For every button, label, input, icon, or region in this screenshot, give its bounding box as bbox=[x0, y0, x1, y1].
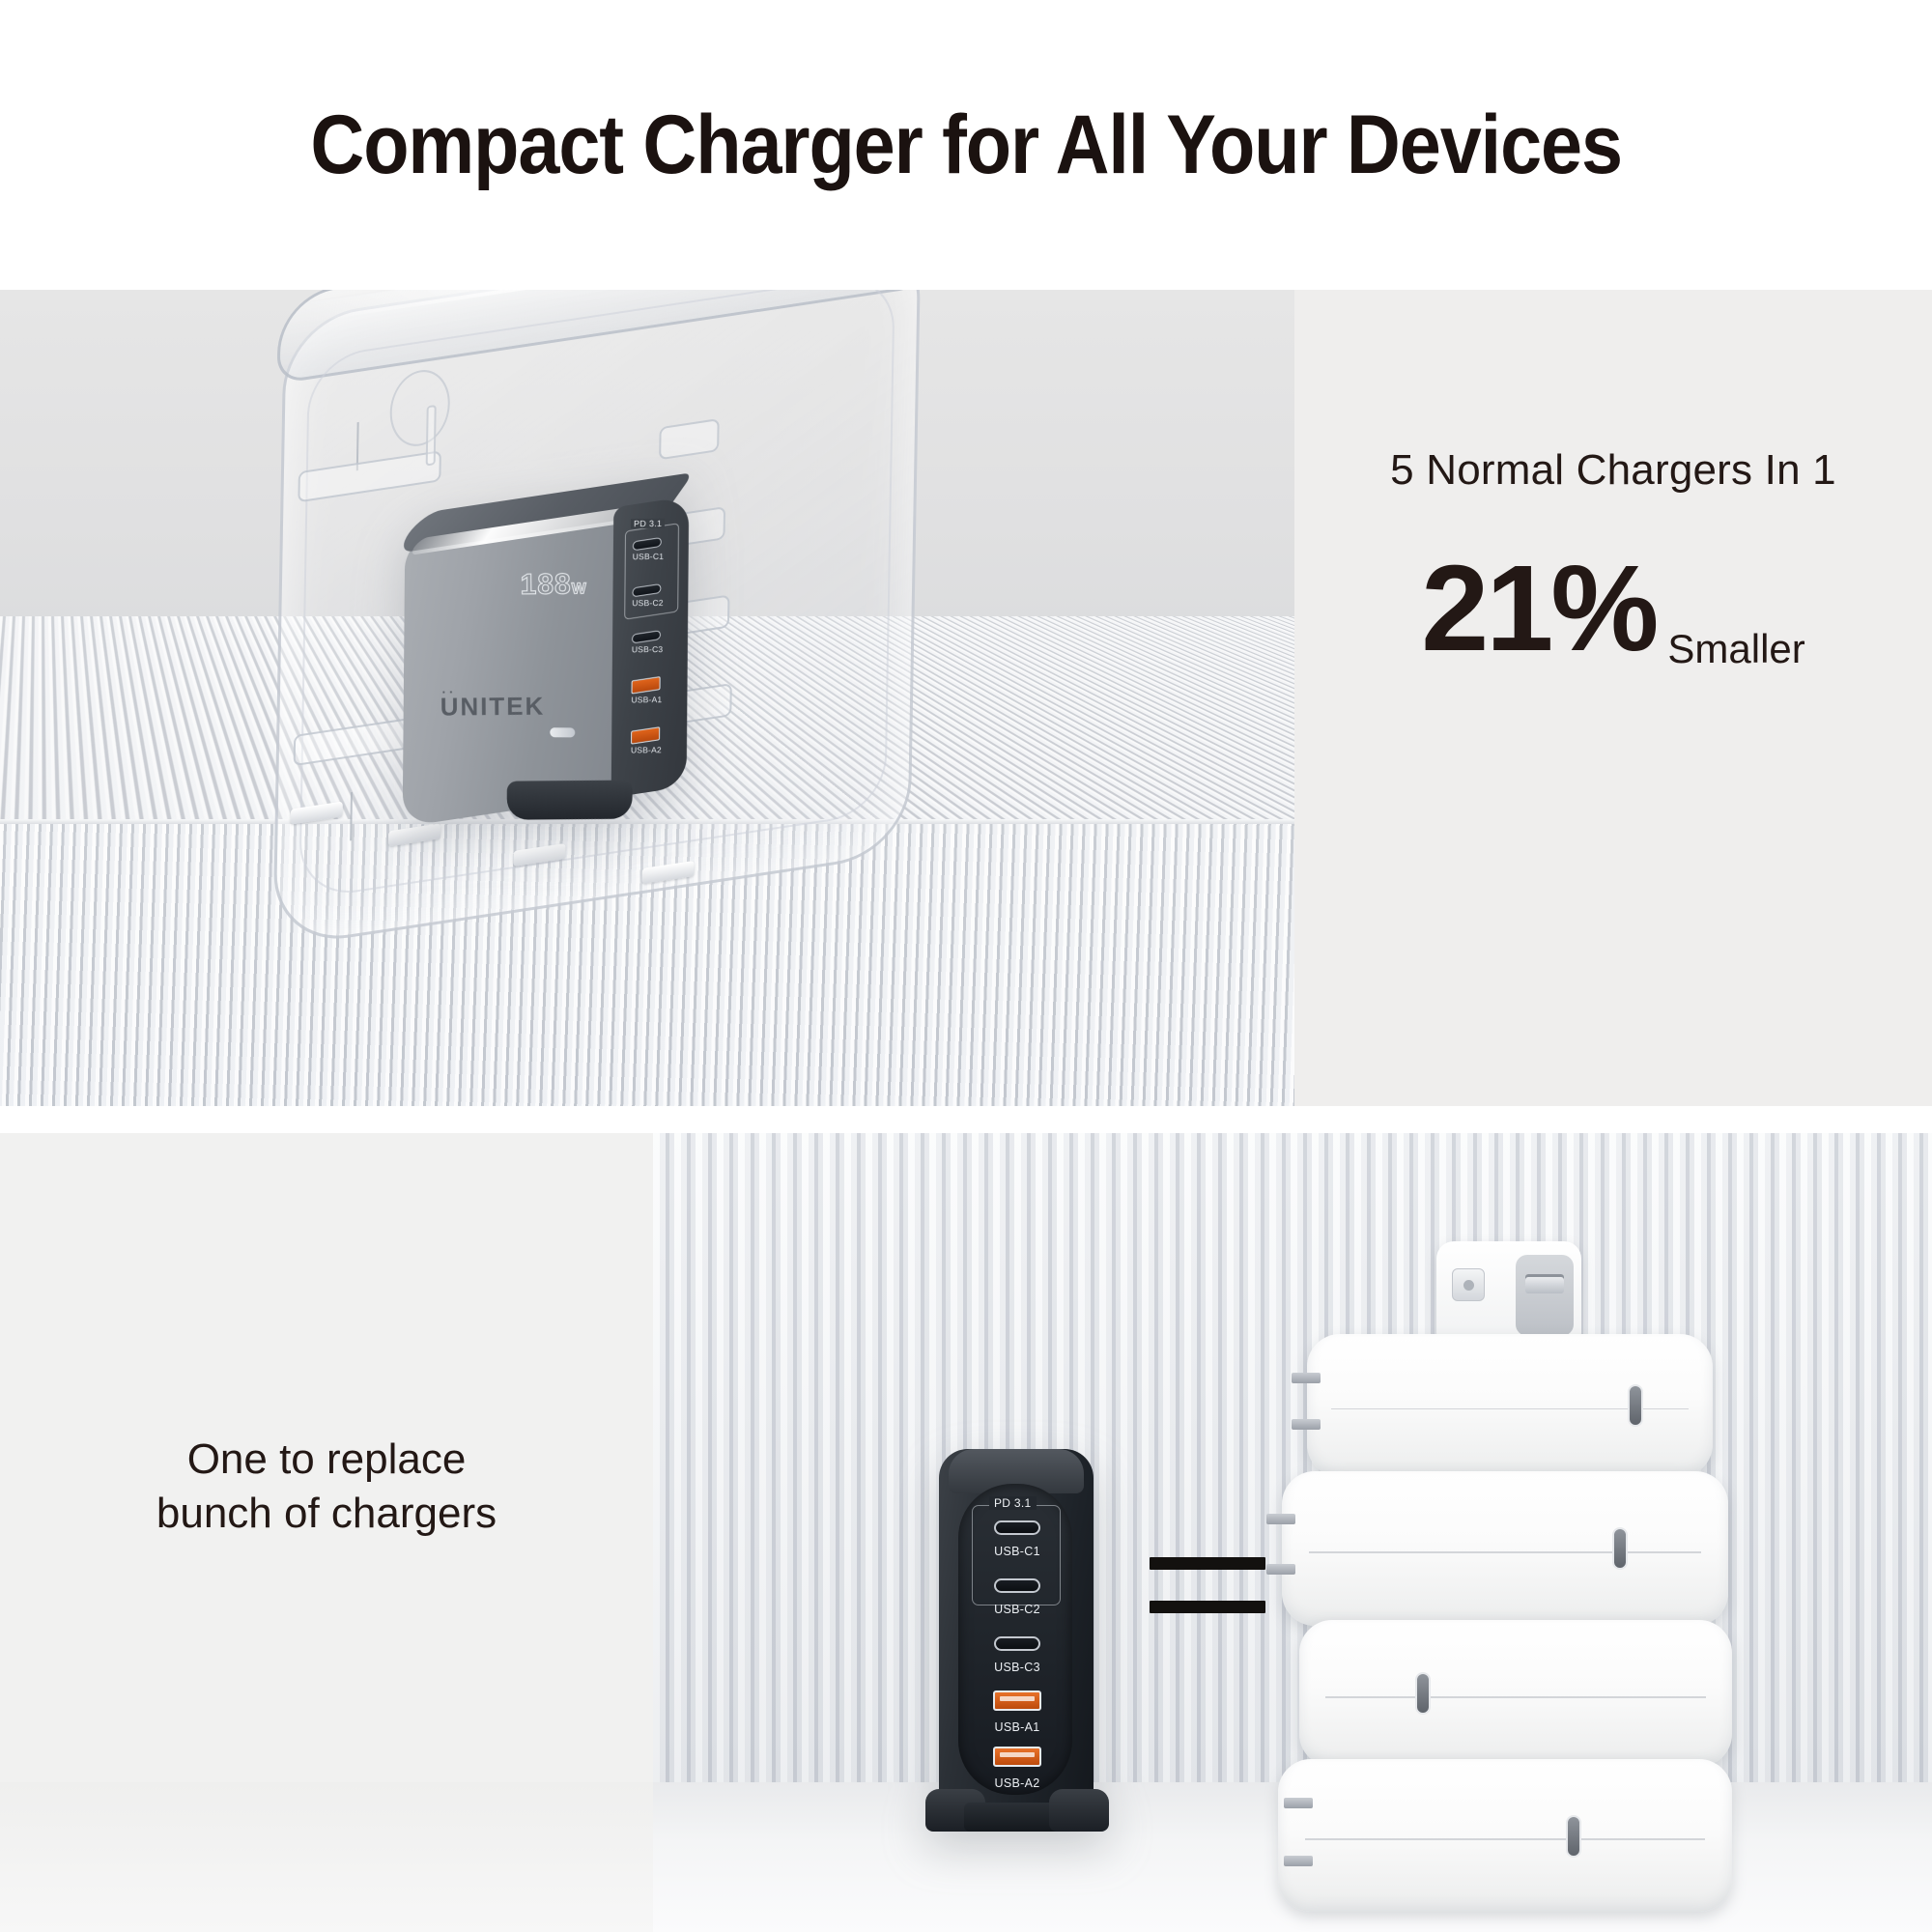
folding-prong-icon bbox=[1266, 1564, 1295, 1575]
port-label: USB-C3 bbox=[925, 1661, 1109, 1674]
usb-a-slot-icon bbox=[993, 1747, 1041, 1767]
usb-a-slot-icon bbox=[631, 726, 660, 745]
usb-a-slot-icon bbox=[632, 676, 661, 695]
top-panel: 188W ..UNITEK PD 3.1 USB-C1 USB-C2 bbox=[0, 290, 1932, 1106]
caption-line-2: bunch of chargers bbox=[0, 1487, 653, 1541]
competing-charger-stack bbox=[1290, 1241, 1744, 1860]
ghost-clip bbox=[426, 405, 437, 467]
port-usb-a2: USB-A2 bbox=[925, 1747, 1109, 1790]
white-charger-3 bbox=[1299, 1620, 1732, 1767]
pd-label: PD 3.1 bbox=[989, 1496, 1037, 1510]
port-usb-c1: USB-C1 bbox=[633, 537, 665, 564]
white-charger-4 bbox=[1278, 1759, 1732, 1912]
usb-a-port-grey bbox=[1516, 1255, 1574, 1336]
white-charger-2 bbox=[1282, 1471, 1728, 1626]
floor-left bbox=[0, 1782, 653, 1932]
page-header: Compact Charger for All Your Devices bbox=[0, 0, 1932, 290]
folding-prong-icon bbox=[1266, 1514, 1295, 1524]
port-usb-c2: USB-C2 bbox=[632, 583, 664, 611]
usb-c-slot-icon bbox=[994, 1636, 1040, 1651]
port-usb-c1: USB-C1 bbox=[925, 1520, 1109, 1558]
top-panel-stats: 5 Normal Chargers In 1 21% Smaller bbox=[1294, 290, 1932, 1106]
equals-bar-bottom bbox=[1150, 1601, 1265, 1613]
port-usb-c3: USB-C3 bbox=[925, 1636, 1109, 1674]
port-label: USB-A2 bbox=[925, 1776, 1109, 1790]
usb-c-port-icon bbox=[1612, 1527, 1628, 1570]
stat-suffix: Smaller bbox=[1667, 626, 1804, 672]
led-indicator bbox=[550, 727, 575, 737]
equals-sign-icon bbox=[1150, 1557, 1265, 1613]
product-marketing-page: Compact Charger for All Your Devices bbox=[0, 0, 1932, 1932]
wattage-marking: 188W bbox=[521, 568, 587, 602]
port-usb-a1: USB-A1 bbox=[925, 1690, 1109, 1734]
page-title: Compact Charger for All Your Devices bbox=[310, 98, 1622, 193]
folding-prong-icon bbox=[1284, 1856, 1313, 1866]
charger-body bbox=[403, 503, 628, 827]
port-label: USB-A1 bbox=[631, 695, 662, 704]
port-label: USB-C2 bbox=[632, 598, 663, 608]
port-label: USB-C1 bbox=[633, 552, 664, 561]
usb-a-slot-icon bbox=[993, 1690, 1041, 1711]
port-label: USB-C2 bbox=[925, 1603, 1109, 1616]
usb-c-port-icon bbox=[1415, 1672, 1431, 1715]
size-stat-block: 5 Normal Chargers In 1 21% Smaller bbox=[1294, 290, 1932, 1106]
pd-label: PD 3.1 bbox=[631, 519, 665, 528]
caption-line-1: One to replace bbox=[0, 1433, 653, 1487]
charger-product-top: 188W ..UNITEK PD 3.1 USB-C1 USB-C2 bbox=[403, 473, 688, 835]
usb-c-slot-icon bbox=[994, 1520, 1040, 1535]
stat-percent-row: 21% Smaller bbox=[1294, 551, 1932, 667]
port-usb-c2: USB-C2 bbox=[925, 1578, 1109, 1616]
port-label: USB-C1 bbox=[925, 1545, 1109, 1558]
brand-logo: ..UNITEK bbox=[440, 692, 546, 723]
white-charger-1 bbox=[1307, 1334, 1713, 1477]
folding-prong-icon bbox=[1292, 1419, 1321, 1430]
port-label: USB-C3 bbox=[632, 644, 663, 654]
folding-prong-icon bbox=[1292, 1373, 1321, 1383]
foot-right bbox=[1049, 1789, 1109, 1832]
top-panel-photo: 188W ..UNITEK PD 3.1 USB-C1 USB-C2 bbox=[0, 290, 1294, 1106]
equals-bar-top bbox=[1150, 1557, 1265, 1570]
usb-c-port-icon bbox=[1566, 1815, 1581, 1858]
stat-headline: 5 Normal Chargers In 1 bbox=[1294, 446, 1932, 495]
charger-base-plug bbox=[507, 781, 633, 820]
port-usb-a1: USB-A1 bbox=[631, 676, 662, 707]
seam-line bbox=[1305, 1838, 1705, 1840]
folding-prong-icon bbox=[1452, 1268, 1485, 1301]
seam-line bbox=[1325, 1696, 1706, 1698]
charger-base-feet bbox=[925, 1789, 1109, 1837]
port-label: USB-A1 bbox=[925, 1720, 1109, 1734]
port-label: USB-A2 bbox=[631, 745, 662, 754]
port-usb-c3: USB-C3 bbox=[632, 630, 664, 657]
brand-umlaut: .. bbox=[441, 681, 456, 696]
usb-c-slot-icon bbox=[632, 630, 661, 644]
stat-percent: 21% bbox=[1421, 551, 1656, 667]
port-usb-a2: USB-A2 bbox=[631, 726, 662, 757]
charger-product-bottom: PD 3.1 USB-C1 USB-C2 USB-C3 USB-A1 USB-A… bbox=[925, 1449, 1109, 1855]
usb-c-slot-icon bbox=[994, 1578, 1040, 1593]
folding-prong-icon bbox=[1284, 1798, 1313, 1808]
panel-divider bbox=[0, 1106, 1932, 1133]
bottom-caption: One to replace bunch of chargers bbox=[0, 1433, 653, 1542]
seam-line bbox=[1309, 1551, 1702, 1553]
usb-c-port-icon bbox=[1628, 1384, 1643, 1427]
port-strip-top: PD 3.1 USB-C1 USB-C2 USB-C3 bbox=[617, 508, 687, 785]
